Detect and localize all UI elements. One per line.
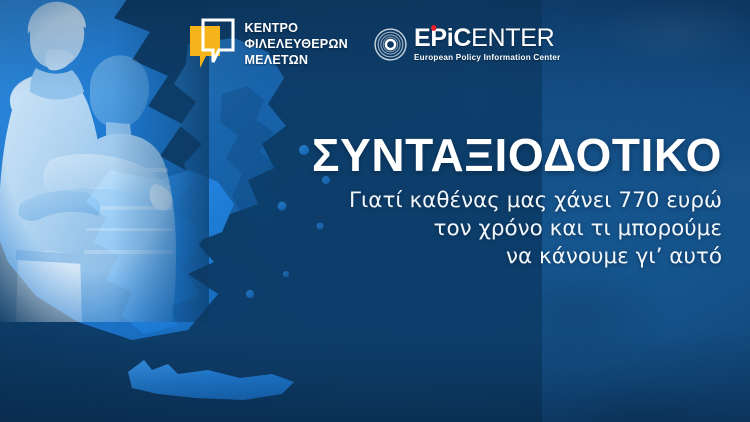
epicenter-name-bold: EPiC bbox=[414, 24, 471, 52]
kefim-logo[interactable]: ΚΕΝΤΡΟ ΦΙΛΕΛΕΥΘΕΡΩΝ ΜΕΛΕΤΩΝ bbox=[189, 18, 348, 72]
kefim-line-2: ΦΙΛΕΛΕΥΘΕΡΩΝ bbox=[244, 37, 348, 53]
poster-canvas: ΚΕΝΤΡΟ ΦΙΛΕΛΕΥΘΕΡΩΝ ΜΕΛΕΤΩΝ bbox=[0, 0, 750, 422]
concentric-rings-icon bbox=[374, 28, 407, 61]
subtitle-line-3: να κάνουμε γι’ αυτό bbox=[270, 243, 722, 271]
logo-row: ΚΕΝΤΡΟ ΦΙΛΕΛΕΥΘΕΡΩΝ ΜΕΛΕΤΩΝ bbox=[0, 18, 750, 72]
epicenter-name-light: ENTER bbox=[471, 24, 554, 52]
headline-block: ΣΥΝΤΑΞΙΟΔΟΤΙΚΟ Γιατί καθένας μας χάνει 7… bbox=[270, 132, 722, 271]
red-dot-icon bbox=[431, 25, 437, 31]
subtitle-line-2: τον χρόνο και τι μπορούμε bbox=[270, 215, 722, 243]
epicenter-tagline: European Policy Information Center bbox=[414, 53, 561, 62]
speech-bubbles-icon bbox=[189, 18, 235, 72]
kefim-line-3: ΜΕΛΕΤΩΝ bbox=[244, 53, 348, 69]
kefim-line-1: ΚΕΝΤΡΟ bbox=[244, 21, 348, 37]
poster-title: ΣΥΝΤΑΞΙΟΔΟΤΙΚΟ bbox=[270, 132, 722, 178]
kefim-wordmark: ΚΕΝΤΡΟ ΦΙΛΕΛΕΥΘΕΡΩΝ ΜΕΛΕΤΩΝ bbox=[244, 21, 348, 69]
epicenter-logo[interactable]: EPiCENTER European Policy Information Ce… bbox=[374, 26, 561, 62]
subtitle-line-1: Γιατί καθένας μας χάνει 770 ευρώ bbox=[270, 187, 722, 215]
poster-subtitle: Γιατί καθένας μας χάνει 770 ευρώ τον χρό… bbox=[270, 187, 722, 271]
epicenter-name: EPiCENTER bbox=[414, 26, 561, 51]
epicenter-wordmark: EPiCENTER European Policy Information Ce… bbox=[414, 26, 561, 62]
